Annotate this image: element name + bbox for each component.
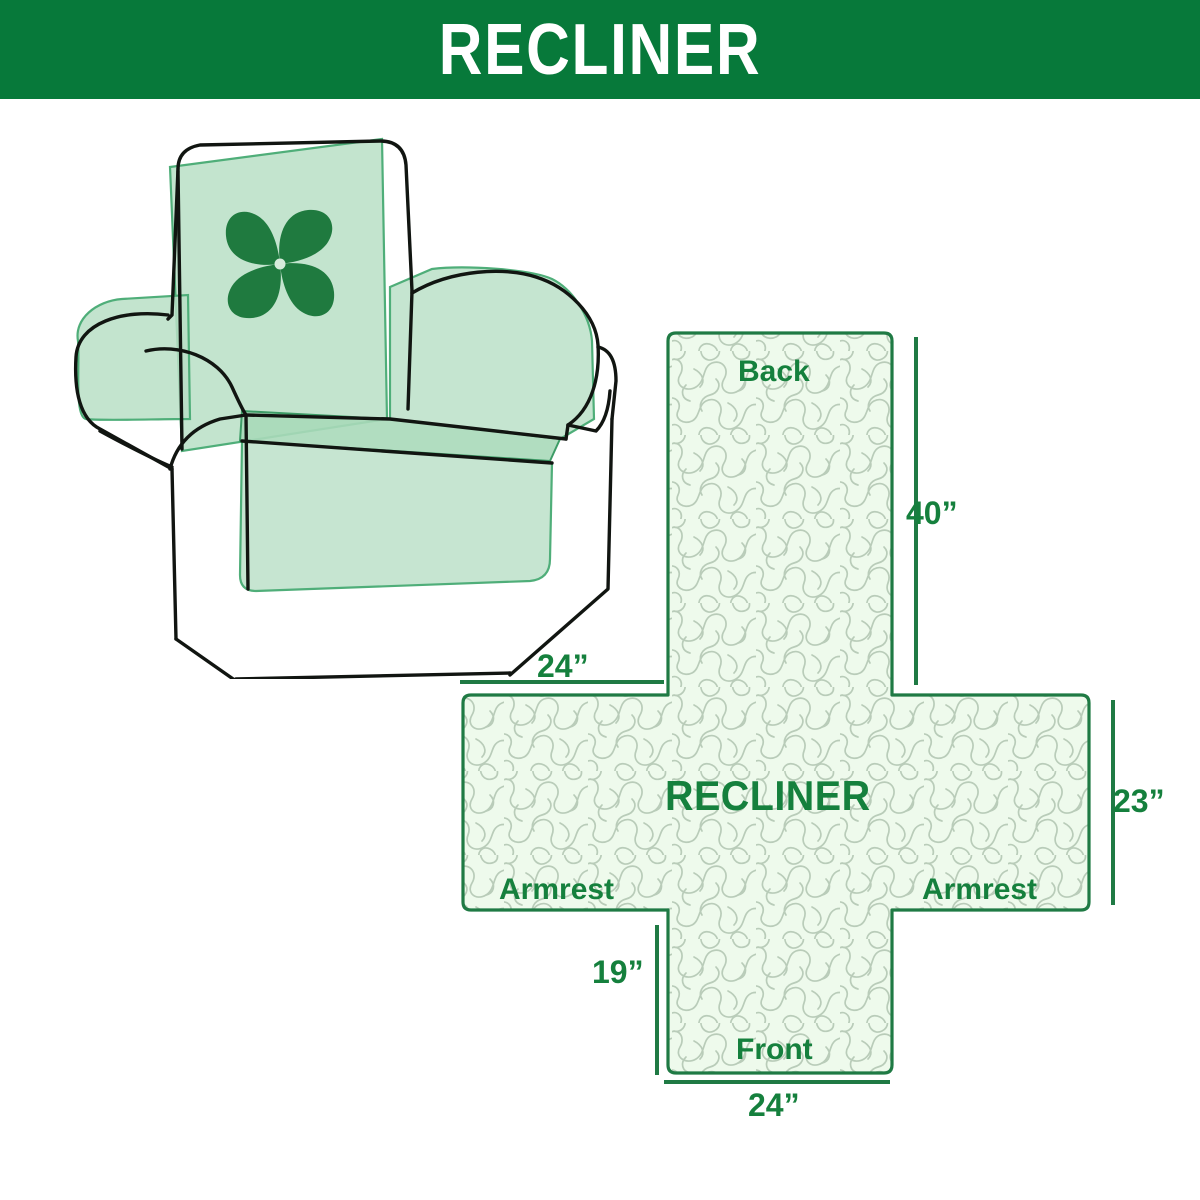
pattern-cross-shape bbox=[463, 333, 1089, 1073]
pattern-label-center: RECLINER bbox=[665, 775, 871, 817]
dimension-label-back-height: 40” bbox=[906, 497, 958, 529]
pattern-label-armrest-right: Armrest bbox=[922, 875, 1037, 905]
dimension-label-seat-depth: 23” bbox=[1113, 785, 1165, 817]
diagram-canvas: Back RECLINER Armrest Armrest Front 40” … bbox=[0, 99, 1200, 1200]
dimension-label-front-height: 19” bbox=[592, 956, 644, 988]
pattern-label-back: Back bbox=[738, 357, 810, 387]
slipcover-flat-pattern bbox=[0, 99, 1200, 1200]
header-banner: RECLINER bbox=[0, 0, 1200, 99]
page-title: RECLINER bbox=[439, 14, 762, 86]
pattern-label-front: Front bbox=[736, 1035, 813, 1065]
pattern-label-armrest-left: Armrest bbox=[499, 875, 614, 905]
dimension-label-armrest-width: 24” bbox=[537, 650, 589, 682]
dimension-label-front-width: 24” bbox=[748, 1089, 800, 1121]
